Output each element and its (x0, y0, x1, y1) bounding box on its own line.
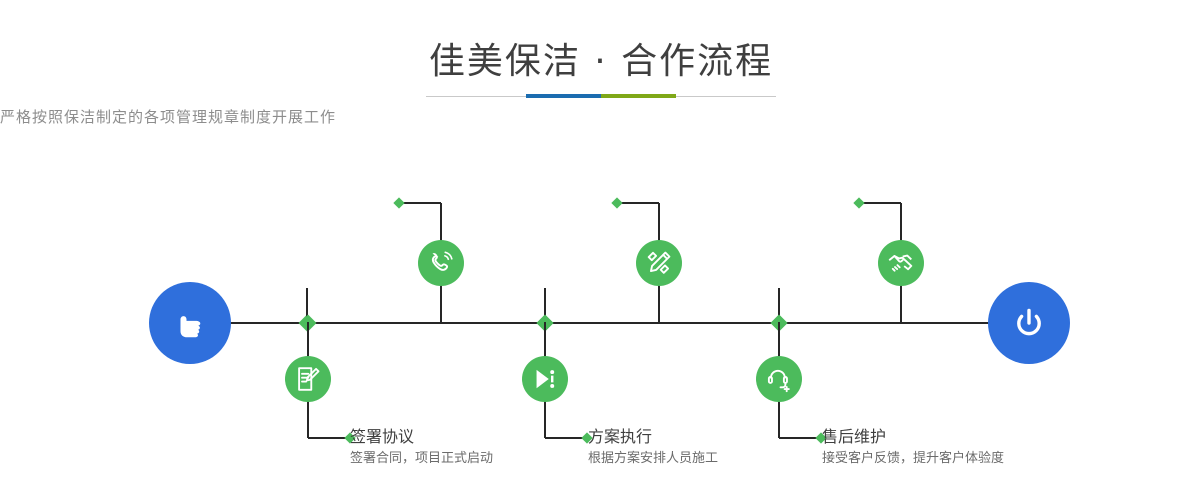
start-node[interactable] (149, 282, 231, 364)
step-title: 方案执行 (588, 427, 718, 447)
end-node[interactable] (988, 282, 1070, 364)
step-description: 接受客户反馈，提升客户体验度 (822, 449, 1004, 468)
step-description: 签署合同，项目正式启动 (350, 449, 493, 468)
divider-line-left (426, 96, 526, 97)
step-icon-bubble[interactable] (285, 356, 331, 402)
label-lead-line (617, 202, 659, 204)
pencil-ruler-icon (644, 248, 674, 278)
label-marker-diamond (853, 197, 864, 208)
header: 佳美保洁 · 合作流程 (0, 0, 1202, 80)
step-title: 签署协议 (350, 427, 493, 447)
play-execute-icon (530, 364, 560, 394)
headset-support-icon (764, 364, 794, 394)
step-label: 方案执行根据方案安排人员施工 (588, 427, 718, 468)
pointing-hand-icon (167, 300, 213, 346)
divider-line-right (676, 96, 776, 97)
power-icon (1006, 300, 1052, 346)
step-icon-bubble[interactable] (418, 240, 464, 286)
divider-segment-blue (526, 94, 601, 98)
step-icon-bubble[interactable] (636, 240, 682, 286)
phone-call-icon (426, 248, 456, 278)
page-title: 佳美保洁 · 合作流程 (0, 0, 1202, 80)
step-icon-bubble[interactable] (756, 356, 802, 402)
step-title: 售后维护 (822, 427, 1004, 447)
timeline: 电话咨询阐明基本情况和需求 签署协议签署合同，项目正式启动 方案定制为客户提供项… (0, 160, 1202, 502)
process-flow-infographic: 佳美保洁 · 合作流程 严格按照保洁制定的各项管理规章制度开展工作 (0, 0, 1202, 502)
step-label: 签署协议签署合同，项目正式启动 (350, 427, 493, 468)
label-marker-diamond (611, 197, 622, 208)
step-description: 根据方案安排人员施工 (588, 449, 718, 468)
handshake-icon (886, 248, 916, 278)
label-lead-line (399, 202, 441, 204)
step-icon-bubble[interactable] (522, 356, 568, 402)
step-label: 售后维护接受客户反馈，提升客户体验度 (822, 427, 1004, 468)
label-marker-diamond (393, 197, 404, 208)
page-subtitle: 严格按照保洁制定的各项管理规章制度开展工作 (0, 106, 1202, 127)
step-icon-bubble[interactable] (878, 240, 924, 286)
label-lead-line (859, 202, 901, 204)
document-sign-icon (293, 364, 323, 394)
title-divider (426, 94, 776, 98)
divider-segment-green (601, 94, 676, 98)
